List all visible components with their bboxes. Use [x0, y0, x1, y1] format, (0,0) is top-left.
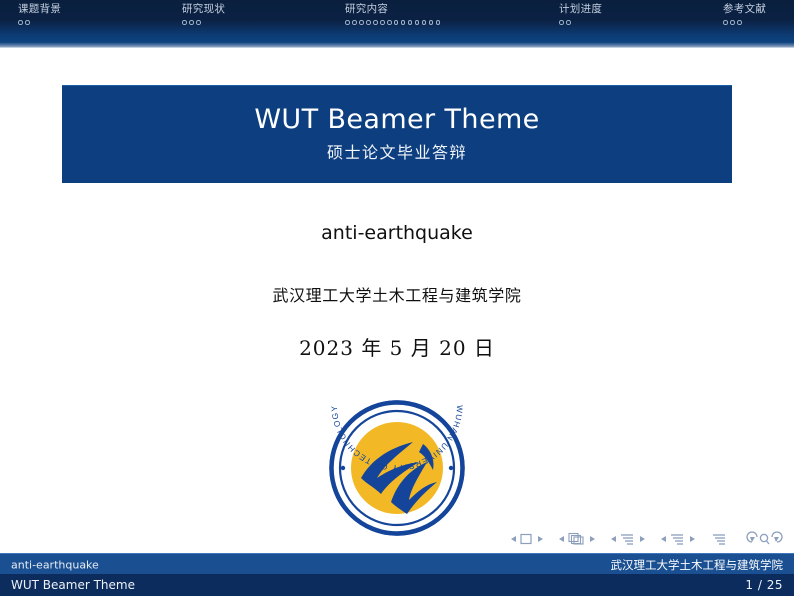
- nav-section-slide-dots[interactable]: [182, 17, 225, 26]
- footer-author-row: anti-earthquake 武汉理工大学土木工程与建筑学院: [0, 553, 794, 575]
- nav-slide-dot[interactable]: [18, 20, 23, 25]
- nav-section-label: 研究内容: [345, 3, 443, 16]
- wut-logo-svg: WUHAN UNIVERSITY OF TECHNOLOGY 武汉理工大学: [327, 398, 467, 538]
- nav-slide-dot[interactable]: [352, 20, 357, 25]
- nav-section-slide-dots[interactable]: [559, 17, 602, 26]
- footer-page-number: 1 / 25: [745, 578, 783, 592]
- title-block: WUT Beamer Theme 硕士论文毕业答辩: [62, 85, 732, 183]
- footer-institute: 武汉理工大学土木工程与建筑学院: [611, 557, 784, 573]
- search-icon: [760, 534, 767, 541]
- prev-section-arrow: [661, 536, 666, 542]
- nav-slide-dot[interactable]: [182, 20, 187, 25]
- nav-section-slide-dots[interactable]: [723, 17, 766, 26]
- footer-title-row: WUT Beamer Theme 1 / 25: [0, 574, 794, 596]
- nav-slide-dot[interactable]: [730, 20, 735, 25]
- nav-slide-dot[interactable]: [394, 20, 399, 25]
- slide-footer: anti-earthquake 武汉理工大学土木工程与建筑学院 WUT Beam…: [0, 553, 794, 596]
- slide-icon: [521, 535, 531, 544]
- subsection-icon: [621, 535, 633, 544]
- nav-slide-dot[interactable]: [366, 20, 371, 25]
- nav-section-slide-dots[interactable]: [18, 17, 61, 26]
- footer-title: WUT Beamer Theme: [11, 578, 135, 592]
- nav-section-label: 计划进度: [559, 3, 602, 16]
- footer-author: anti-earthquake: [11, 558, 99, 571]
- next-frame-arrow: [590, 536, 595, 542]
- navigation-headline-bar: 课题背景研究现状研究内容计划进度参考文献: [0, 0, 794, 48]
- nav-slide-dot[interactable]: [436, 20, 441, 25]
- nav-section-1[interactable]: 课题背景: [18, 3, 61, 26]
- section-navigation: 课题背景研究现状研究内容计划进度参考文献: [0, 0, 794, 34]
- prev-frame-arrow: [559, 536, 564, 542]
- institute-name: 武汉理工大学土木工程与建筑学院: [0, 282, 794, 306]
- nav-slide-dot[interactable]: [387, 20, 392, 25]
- university-logo: WUHAN UNIVERSITY OF TECHNOLOGY 武汉理工大学: [327, 398, 467, 538]
- next-section-arrow: [690, 536, 695, 542]
- next-subsection-arrow: [640, 536, 645, 542]
- nav-slide-dot[interactable]: [189, 20, 194, 25]
- document-icon: [713, 535, 725, 544]
- nav-slide-dot[interactable]: [723, 20, 728, 25]
- logo-right-dot: [449, 466, 453, 470]
- nav-slide-dot[interactable]: [422, 20, 427, 25]
- prev-subsection-arrow: [611, 536, 616, 542]
- nav-slide-dot[interactable]: [559, 20, 564, 25]
- section-icon: [671, 535, 683, 544]
- nav-slide-dot[interactable]: [196, 20, 201, 25]
- nav-slide-dot[interactable]: [408, 20, 413, 25]
- nav-slide-dot[interactable]: [25, 20, 30, 25]
- pdf-nav-svg[interactable]: [505, 531, 783, 547]
- nav-slide-dot[interactable]: [737, 20, 742, 25]
- nav-slide-dot[interactable]: [345, 20, 350, 25]
- frames-icon: [569, 534, 583, 545]
- nav-slide-dot[interactable]: [566, 20, 571, 25]
- prev-slide-arrow: [511, 536, 516, 542]
- nav-section-4[interactable]: 计划进度: [559, 3, 602, 26]
- logo-left-dot: [341, 466, 345, 470]
- nav-section-3[interactable]: 研究内容: [345, 3, 443, 26]
- author-name: anti-earthquake: [0, 222, 794, 244]
- presentation-subtitle: 硕士论文毕业答辩: [327, 143, 467, 164]
- nav-slide-dot[interactable]: [401, 20, 406, 25]
- nav-slide-dot[interactable]: [373, 20, 378, 25]
- next-slide-arrow: [538, 536, 543, 542]
- presentation-title: WUT Beamer Theme: [254, 104, 539, 136]
- nav-slide-dot[interactable]: [380, 20, 385, 25]
- nav-slide-dot[interactable]: [359, 20, 364, 25]
- nav-section-2[interactable]: 研究现状: [182, 3, 225, 26]
- nav-section-5[interactable]: 参考文献: [723, 3, 766, 26]
- nav-slide-dot[interactable]: [415, 20, 420, 25]
- nav-section-label: 研究现状: [182, 3, 225, 16]
- nav-section-slide-dots[interactable]: [345, 17, 443, 26]
- presentation-date: 2023 年 5 月 20 日: [0, 332, 794, 361]
- nav-section-label: 参考文献: [723, 3, 766, 16]
- nav-slide-dot[interactable]: [429, 20, 434, 25]
- nav-section-label: 课题背景: [18, 3, 61, 16]
- search-handle: [767, 541, 770, 544]
- pdf-navigation-symbols[interactable]: [505, 531, 783, 547]
